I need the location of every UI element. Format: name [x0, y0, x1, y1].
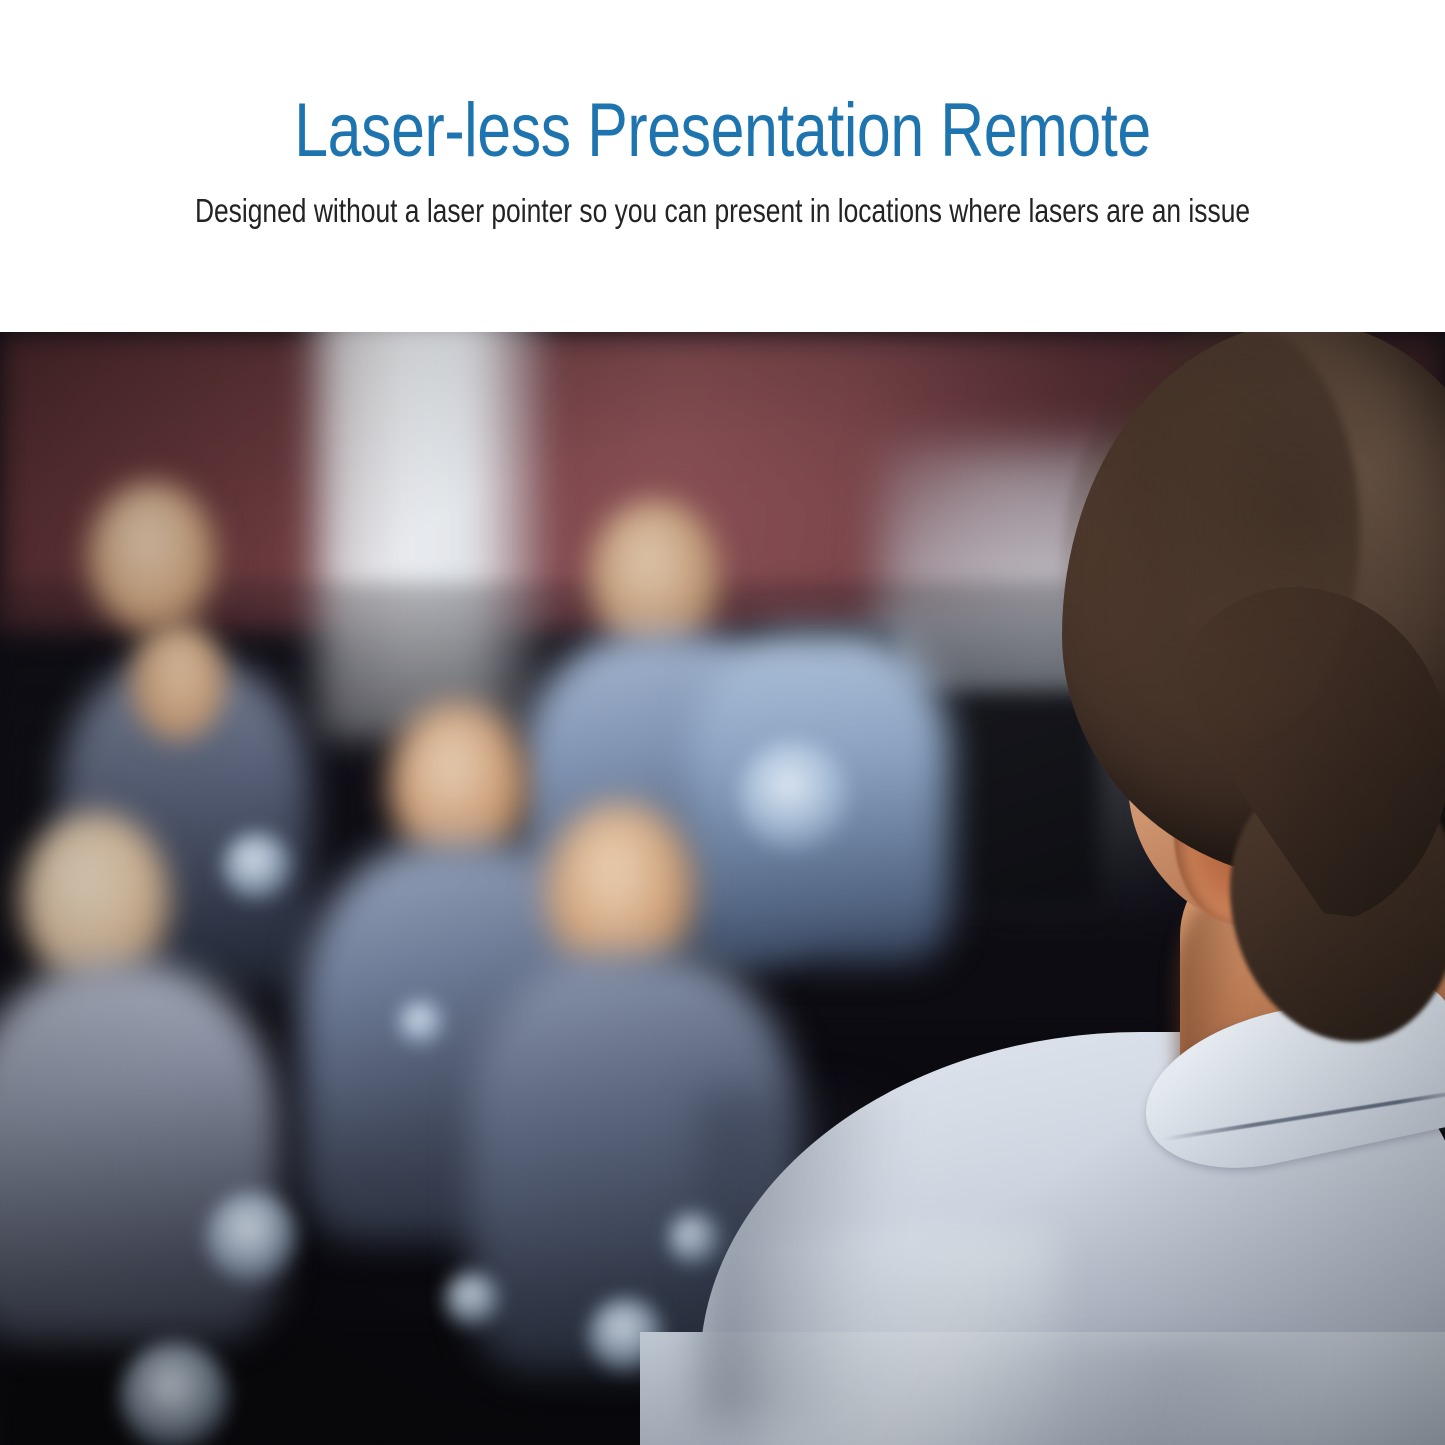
product-feature-page: Laser-less Presentation Remote Designed …: [0, 0, 1445, 1445]
page-title: Laser-less Presentation Remote: [145, 88, 1301, 174]
presenter-hand-group: [420, 1022, 720, 1445]
audience-person-head: [88, 482, 216, 632]
audience-raised-hand: [130, 622, 226, 740]
header-section: Laser-less Presentation Remote Designed …: [0, 0, 1445, 332]
bokeh-highlight: [222, 832, 292, 902]
bokeh-highlight: [738, 740, 850, 852]
audience-person-body: [0, 962, 280, 1342]
page-subtitle: Designed without a laser pointer so you …: [145, 190, 1301, 232]
hero-photo: [0, 332, 1445, 1445]
bokeh-highlight: [120, 1342, 230, 1445]
audience-person-head: [590, 500, 720, 652]
shirt-fold: [980, 1342, 1400, 1445]
audience-person-head: [20, 812, 170, 987]
bokeh-highlight: [206, 1192, 298, 1284]
